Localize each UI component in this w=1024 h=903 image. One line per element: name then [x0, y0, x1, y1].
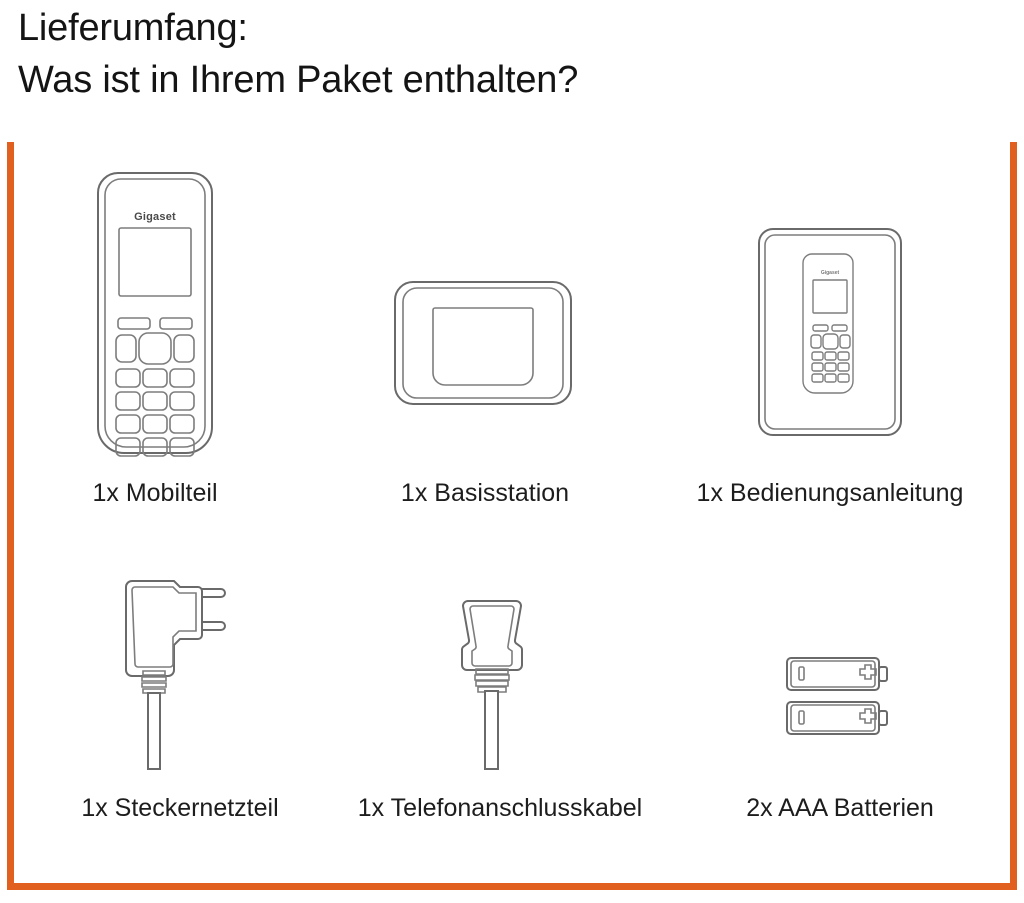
caption-phone-cable: 1x Telefonanschlusskabel — [330, 793, 670, 823]
item-power-adapter — [110, 565, 250, 770]
phone-line-cable-icon — [440, 590, 560, 770]
caption-handset: 1x Mobilteil — [35, 478, 275, 508]
caption-manual: 1x Bedienungsanleitung — [660, 478, 1000, 508]
power-adapter-icon — [110, 565, 250, 770]
item-base-station — [390, 275, 580, 425]
item-phone-cable — [440, 590, 560, 770]
aaa-batteries-icon — [778, 650, 903, 755]
cordless-handset-icon: Gigaset — [60, 170, 250, 460]
base-station-icon — [390, 275, 580, 425]
page-title-line-2: Was ist in Ihrem Paket enthalten? — [18, 54, 978, 106]
caption-power-adapter: 1x Steckernetzteil — [30, 793, 330, 823]
svg-text:Gigaset: Gigaset — [134, 211, 176, 223]
item-manual: Gigaset — [755, 225, 910, 440]
page-title-line-1: Lieferumfang: — [18, 2, 978, 54]
caption-base-station: 1x Basisstation — [375, 478, 595, 508]
item-handset: Gigaset — [60, 170, 250, 460]
page-title: Lieferumfang: Was ist in Ihrem Paket ent… — [18, 2, 978, 106]
user-manual-icon: Gigaset — [755, 225, 910, 440]
item-batteries — [778, 650, 903, 755]
svg-text:Gigaset: Gigaset — [821, 270, 840, 276]
caption-batteries: 2x AAA Batterien — [710, 793, 970, 823]
